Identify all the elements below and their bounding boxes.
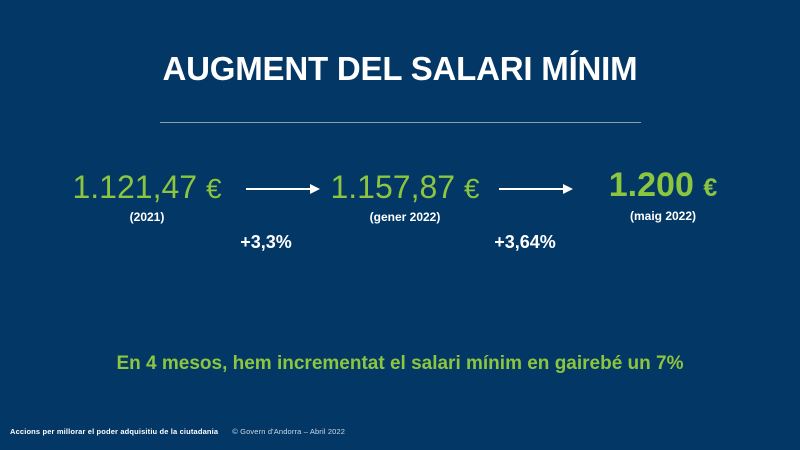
euro-symbol-icon: €: [206, 173, 222, 204]
arrow-head: [310, 184, 320, 194]
arrow-head: [563, 184, 573, 194]
footer-copyright: © Govern d'Andorra – Abril 2022: [232, 427, 345, 436]
figure-period-gener-2022: (gener 2022): [305, 209, 505, 225]
arrow-shaft: [246, 188, 310, 190]
figure-period-2021: (2021): [47, 209, 247, 225]
figure-amount-maig-2022: 1.200 €: [563, 166, 763, 207]
slide-canvas: AUGMENT DEL SALARI MÍNIM 1.121,47 € (202…: [0, 0, 800, 450]
arrow-shaft: [499, 188, 563, 190]
footer: Accions per millorar el poder adquisitiu…: [10, 427, 345, 436]
figure-group-2021: 1.121,47 € (2021): [47, 168, 247, 225]
summary-statement: En 4 mesos, hem incrementat el salari mí…: [0, 352, 800, 376]
euro-symbol-icon: €: [703, 174, 717, 202]
figure-group-gener-2022: 1.157,87 € (gener 2022): [305, 168, 505, 225]
figure-value-2021: 1.121,47: [72, 169, 197, 205]
page-title: AUGMENT DEL SALARI MÍNIM: [0, 49, 800, 89]
figure-value-maig-2022: 1.200: [609, 166, 694, 204]
footer-tagline: Accions per millorar el poder adquisitiu…: [10, 427, 218, 436]
arrow-right-icon-2: [499, 183, 573, 195]
euro-symbol-icon: €: [464, 173, 480, 204]
title-divider: [160, 122, 641, 123]
arrow-right-icon-1: [246, 183, 320, 195]
figure-period-maig-2022: (maig 2022): [563, 208, 763, 224]
figure-amount-gener-2022: 1.157,87 €: [305, 168, 505, 208]
figures-row: 1.121,47 € (2021) 1.157,87 € (gener 2022…: [0, 160, 800, 230]
figure-value-gener-2022: 1.157,87: [330, 169, 455, 205]
figure-amount-2021: 1.121,47 €: [47, 168, 247, 208]
figure-group-maig-2022: 1.200 € (maig 2022): [563, 166, 763, 224]
change-label-1: +3,3%: [196, 231, 336, 253]
change-label-2: +3,64%: [455, 231, 595, 253]
